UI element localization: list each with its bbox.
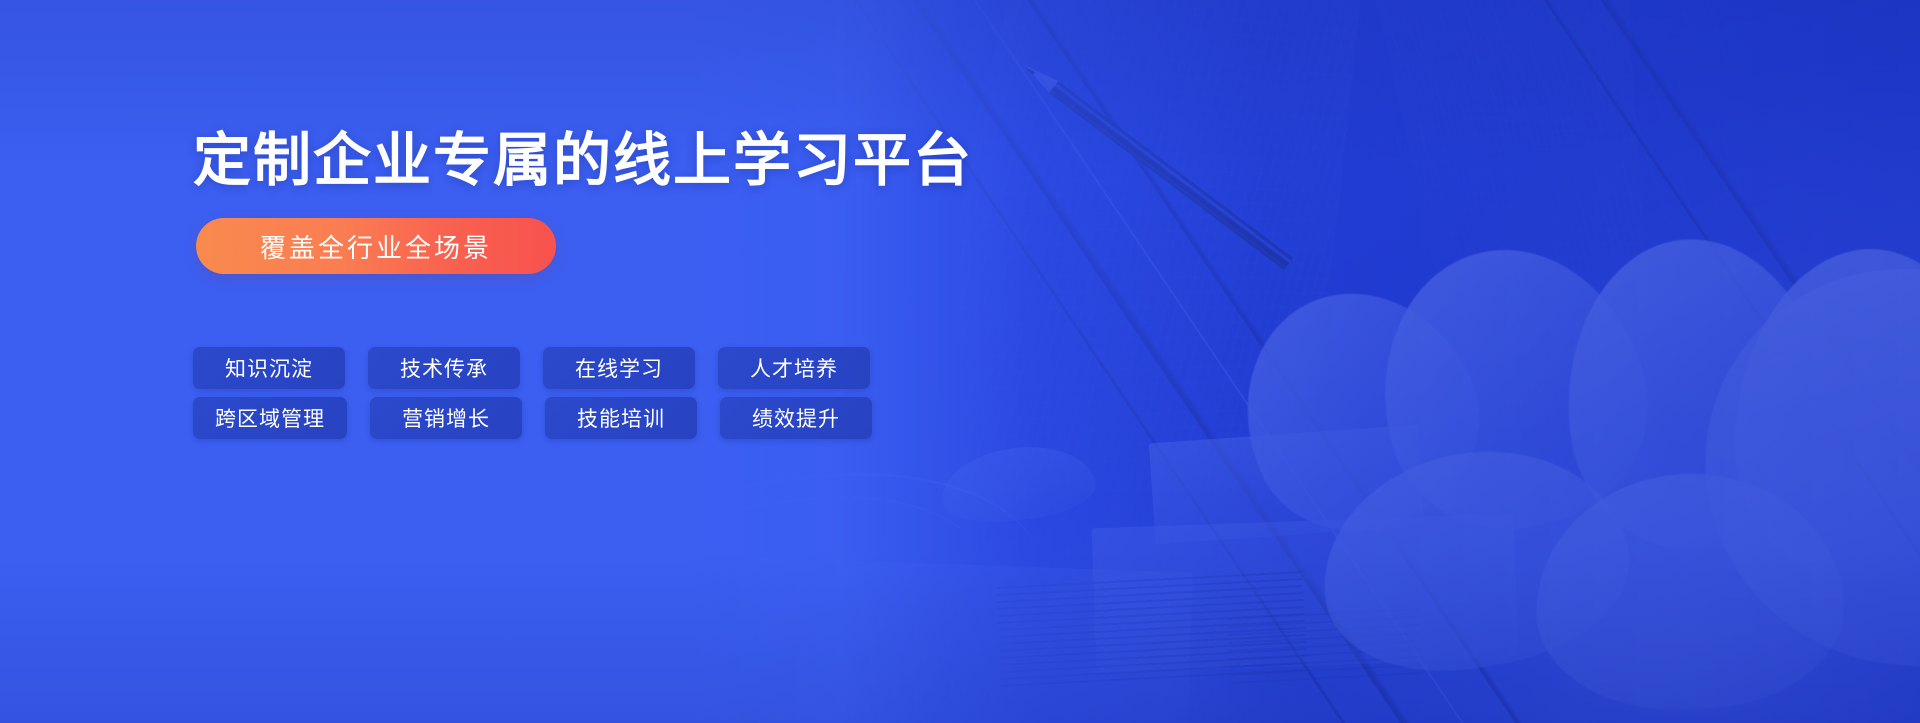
feature-tag-label: 知识沉淀 xyxy=(225,353,313,383)
feature-tag-row: 知识沉淀 技术传承 在线学习 人才培养 xyxy=(193,347,872,389)
feature-tag-label: 跨区域管理 xyxy=(215,403,325,433)
page-title: 定制企业专属的线上学习平台 xyxy=(193,132,973,190)
feature-tag[interactable]: 人才培养 xyxy=(718,347,870,389)
feature-tag-label: 绩效提升 xyxy=(752,403,840,433)
feature-tag-label: 在线学习 xyxy=(575,353,663,383)
feature-tag-label: 技术传承 xyxy=(400,353,488,383)
feature-tag-label: 人才培养 xyxy=(750,353,838,383)
feature-tag-row: 跨区域管理 营销增长 技能培训 绩效提升 xyxy=(193,397,872,439)
feature-tag[interactable]: 在线学习 xyxy=(543,347,695,389)
feature-tag[interactable]: 跨区域管理 xyxy=(193,397,347,439)
feature-tag-list: 知识沉淀 技术传承 在线学习 人才培养 跨区域管理 营销增长 xyxy=(193,347,872,439)
feature-tag[interactable]: 知识沉淀 xyxy=(193,347,345,389)
feature-tag-label: 技能培训 xyxy=(577,403,665,433)
feature-tag[interactable]: 技能培训 xyxy=(545,397,697,439)
coverage-badge-label: 覆盖全行业全场景 xyxy=(260,228,492,265)
coverage-badge[interactable]: 覆盖全行业全场景 xyxy=(196,218,556,274)
feature-tag-label: 营销增长 xyxy=(402,403,490,433)
hero-banner: 定制企业专属的线上学习平台 覆盖全行业全场景 知识沉淀 技术传承 在线学习 人才… xyxy=(0,0,1920,723)
feature-tag[interactable]: 技术传承 xyxy=(368,347,520,389)
feature-tag[interactable]: 营销增长 xyxy=(370,397,522,439)
feature-tag[interactable]: 绩效提升 xyxy=(720,397,872,439)
